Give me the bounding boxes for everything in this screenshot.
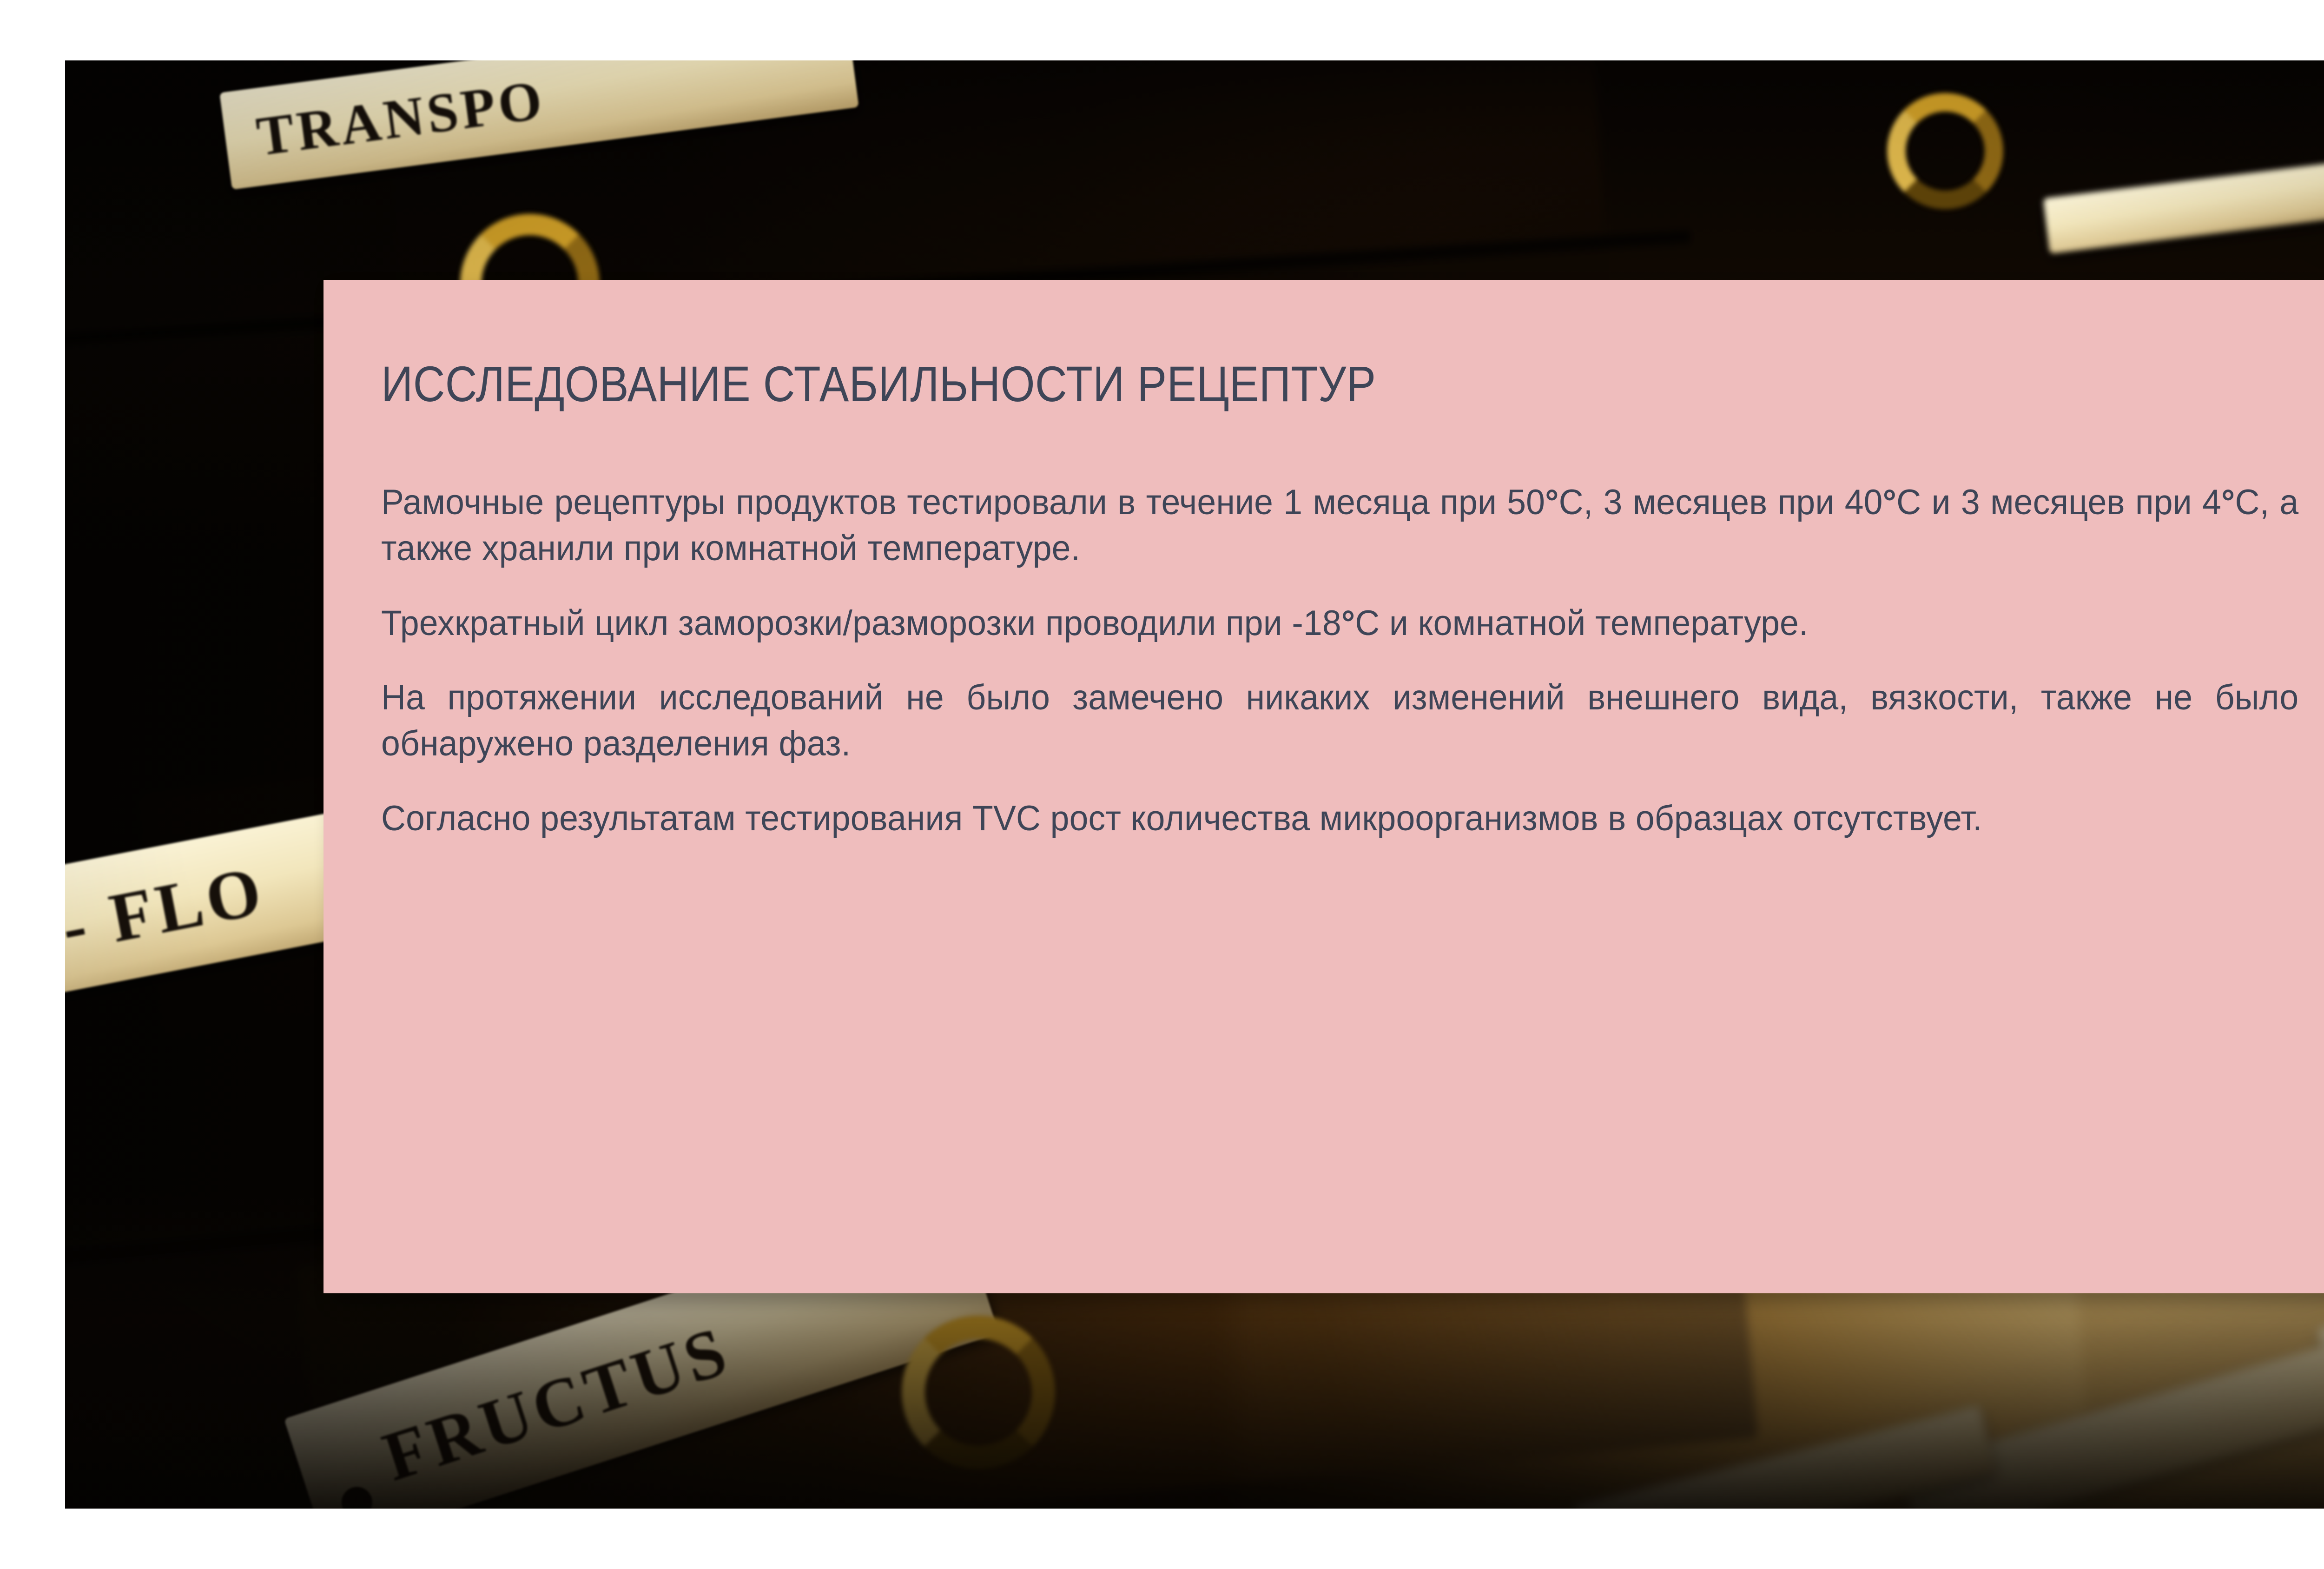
degree-symbol: ° [1883, 483, 1896, 522]
paragraph-appearance-observation: На протяжении исследований не было замеч… [381, 675, 2298, 767]
paragraph-tvc-result: Согласно результатам тестирования TVC ро… [381, 796, 2298, 842]
degree-symbol: ° [2221, 483, 2235, 522]
content-panel: ИССЛЕДОВАНИЕ СТАБИЛЬНОСТИ РЕЦЕПТУР Рамоч… [324, 280, 2324, 1293]
slide: TRANSPO - FLO FRUCTUS [0, 0, 2324, 1569]
paragraph-storage-conditions: Рамочные рецептуры продуктов тестировали… [381, 480, 2298, 572]
content-panel-inner: ИССЛЕДОВАНИЕ СТАБИЛЬНОСТИ РЕЦЕПТУР Рамоч… [381, 280, 2324, 1293]
page-title: ИССЛЕДОВАНИЕ СТАБИЛЬНОСТИ РЕЦЕПТУР [381, 357, 2130, 410]
body-copy: Рамочные рецептуры продуктов тестировали… [381, 480, 2324, 842]
degree-symbol: ° [1545, 483, 1558, 522]
degree-symbol: ° [1341, 603, 1355, 643]
paragraph-freeze-thaw-cycle: Трехкратный цикл заморозки/разморозки пр… [381, 601, 2298, 647]
